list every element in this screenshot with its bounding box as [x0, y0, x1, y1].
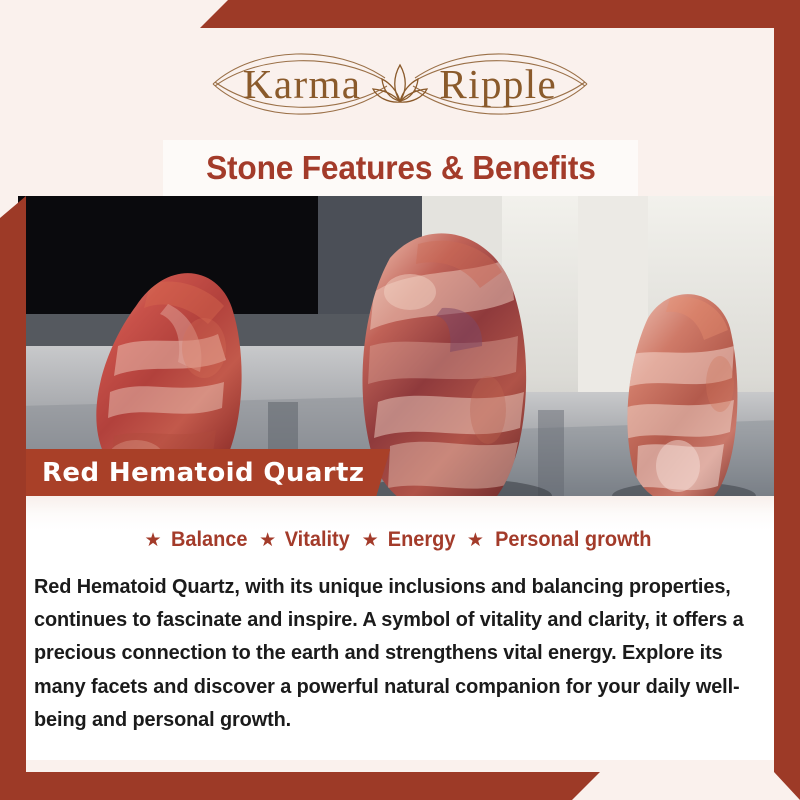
frame-right-bar [774, 0, 800, 800]
lotus-icon [369, 59, 431, 109]
page-title: Stone Features & Benefits [206, 149, 596, 187]
stone-name-ribbon: Red Hematoid Quartz [18, 449, 390, 496]
benefit-item: ★ Personal growth [467, 528, 656, 552]
frame-left-bar [0, 196, 26, 800]
brand-header: Karma Ripple [0, 28, 800, 140]
brand-word-right: Ripple [439, 64, 557, 105]
star-icon: ★ [467, 531, 484, 550]
star-icon: ★ [145, 531, 162, 550]
star-icon: ★ [259, 531, 276, 550]
benefits-list: ★ Balance ★ Vitality ★ Energy ★ Personal… [18, 528, 782, 552]
stone-name-label: Red Hematoid Quartz [42, 458, 364, 488]
brand-word-left: Karma [243, 64, 362, 105]
benefit-label-personal-growth: Personal growth [495, 528, 651, 552]
title-banner: Stone Features & Benefits [163, 140, 638, 196]
benefit-label-balance: Balance [171, 528, 248, 552]
benefit-label-vitality: Vitality [285, 528, 350, 552]
poster-canvas: Karma Ripple Stone Features & Benefits [0, 0, 800, 800]
benefit-label-energy: Energy [387, 528, 455, 552]
brand-wordmark: Karma Ripple [185, 59, 615, 109]
content-panel: ★ Balance ★ Vitality ★ Energy ★ Personal… [18, 496, 782, 760]
benefit-item: ★ Energy [362, 528, 457, 552]
frame-bottom-bar [0, 772, 800, 800]
benefit-item: ★ Vitality [259, 528, 352, 552]
brand-logo: Karma Ripple [185, 38, 615, 130]
frame-top-bar [0, 0, 800, 28]
star-icon: ★ [362, 531, 379, 550]
description-paragraph: Red Hematoid Quartz, with its unique inc… [34, 570, 748, 736]
benefit-item: ★ Balance [145, 528, 250, 552]
